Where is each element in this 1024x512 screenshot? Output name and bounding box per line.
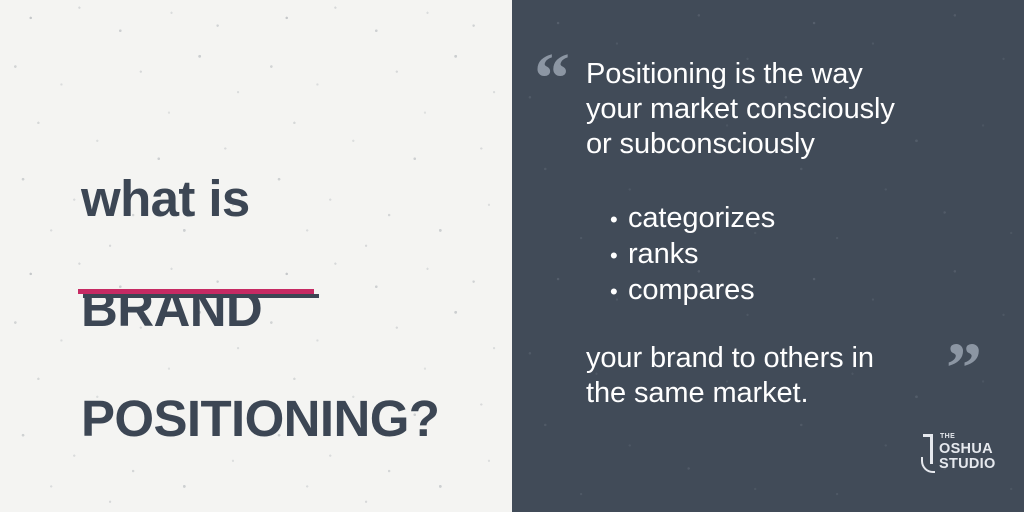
slide-canvas: what is BRAND POSITIONING? “ Positioning…	[0, 0, 1024, 512]
logo-studio-text: STUDIO	[939, 456, 996, 472]
logo-j-letter-icon	[919, 434, 939, 472]
bullet-dot-icon: •	[610, 202, 628, 237]
quote-outro-line-2: the same market.	[586, 376, 1006, 411]
bullet-dot-icon: •	[610, 274, 628, 309]
headline-line-3: POSITIONING?	[81, 391, 439, 446]
brand-logo: THE OSHUA STUDIO	[919, 432, 1003, 476]
bullet-label: compares	[628, 273, 755, 308]
right-panel: “ Positioning is the way your market con…	[512, 0, 1024, 512]
logo-j-hook	[921, 457, 935, 473]
underline-shadow-bar	[83, 294, 319, 298]
bullet-dot-icon: •	[610, 238, 628, 273]
bullet-label: categorizes	[628, 201, 775, 236]
quote-bullet-list: • categorizes • ranks • compares	[610, 201, 775, 309]
logo-the-text: THE	[940, 433, 955, 441]
headline-underline	[78, 289, 320, 301]
quote-intro-line-1: Positioning is the way	[586, 57, 1006, 92]
quote-outro-line-1: your brand to others in	[586, 341, 1006, 376]
list-item: • categorizes	[610, 201, 775, 237]
quote-intro-text: Positioning is the way your market consc…	[586, 57, 1006, 162]
bullet-label: ranks	[628, 237, 698, 272]
quote-intro-line-2: your market consciously	[586, 92, 1006, 127]
logo-joshua-text: OSHUA	[939, 441, 993, 457]
quote-intro-line-3: or subconsciously	[586, 127, 1006, 162]
page-title: what is BRAND POSITIONING?	[81, 116, 439, 501]
opening-quote-icon: “	[534, 42, 568, 114]
closing-quote-icon: ”	[946, 332, 980, 404]
left-panel: what is BRAND POSITIONING?	[0, 0, 512, 512]
quote-outro-text: your brand to others in the same market.	[586, 341, 1006, 411]
list-item: • ranks	[610, 237, 775, 273]
list-item: • compares	[610, 273, 775, 309]
headline-line-1: what is	[81, 171, 439, 226]
